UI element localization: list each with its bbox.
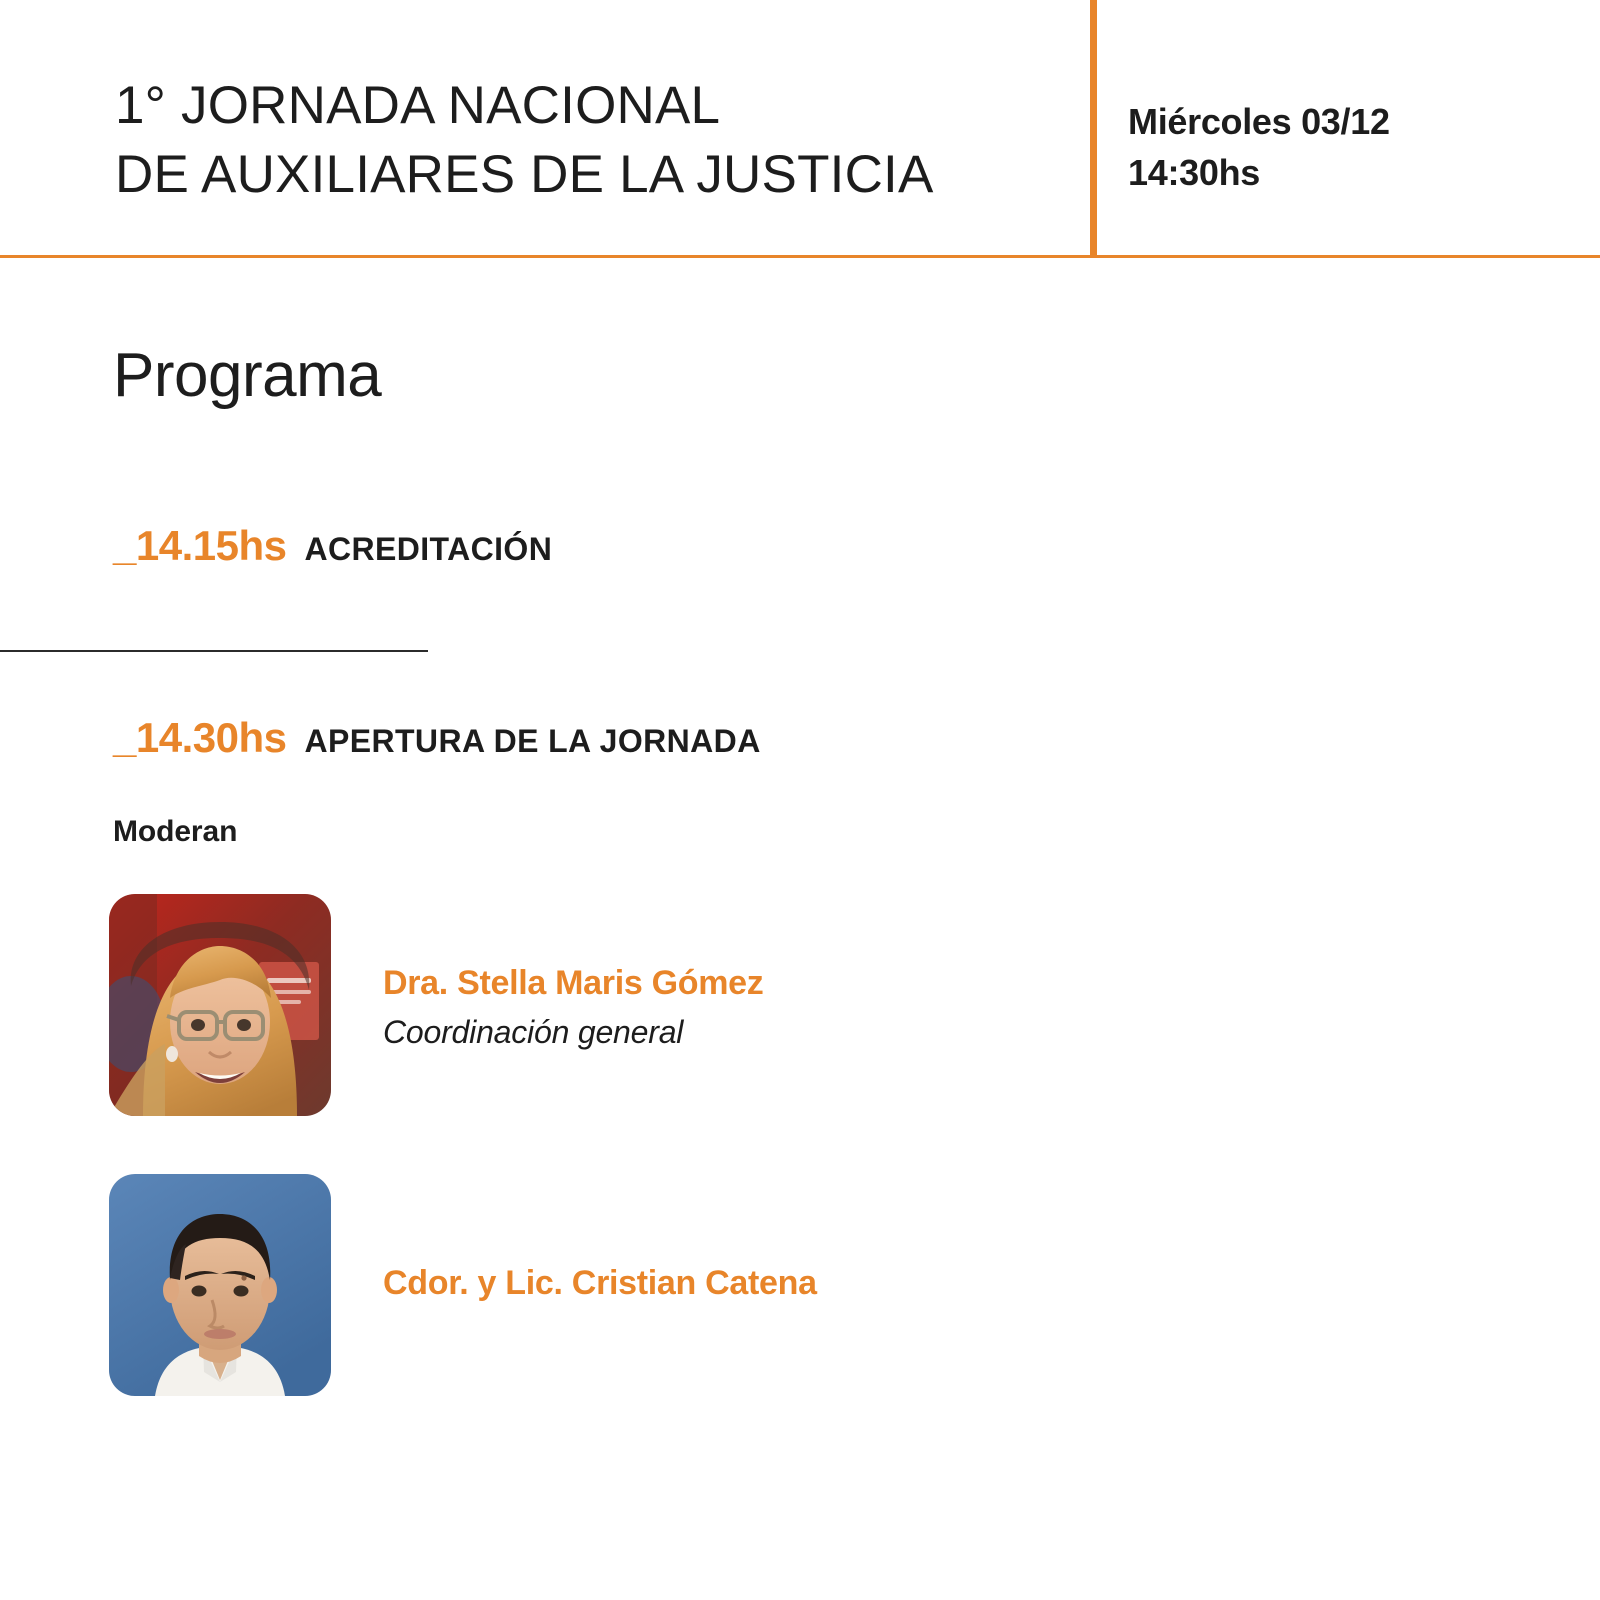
schedule-slot-label: ACREDITACIÓN [304, 531, 552, 568]
moderator-photo-stella-maris-gomez [109, 894, 331, 1116]
schedule-slot-headline: _14.15hs ACREDITACIÓN [113, 522, 552, 570]
schedule-slot-time: _14.15hs [113, 522, 286, 570]
moderator-role: Coordinación general [383, 1011, 1203, 1054]
event-time: 14:30hs [1128, 147, 1558, 198]
moderator-name: Dra. Stella Maris Gómez [383, 962, 1203, 1005]
schedule-divider [0, 650, 428, 652]
header-vertical-divider [1090, 0, 1097, 258]
event-datetime: Miércoles 03/12 14:30hs [1128, 96, 1558, 198]
page-title: 1° JORNADA NACIONAL DE AUXILIARES DE LA … [115, 72, 1055, 210]
schedule-slot-time: _14.30hs [113, 714, 286, 762]
moderator-text: Dra. Stella Maris Gómez Coordinación gen… [383, 962, 1203, 1054]
event-date: Miércoles 03/12 [1128, 96, 1558, 147]
moderator-text: Cdor. y Lic. Cristian Catena [383, 1262, 1203, 1305]
moderators-label: Moderan [113, 815, 237, 849]
header: 1° JORNADA NACIONAL DE AUXILIARES DE LA … [0, 0, 1600, 258]
schedule-slot-headline: _14.30hs APERTURA DE LA JORNADA [113, 714, 761, 762]
program-heading: Programa [113, 340, 381, 411]
header-horizontal-rule [0, 255, 1600, 258]
moderator-name: Cdor. y Lic. Cristian Catena [383, 1262, 1203, 1305]
schedule-slot-label: APERTURA DE LA JORNADA [304, 723, 760, 760]
moderator-photo-cristian-catena [109, 1174, 331, 1396]
